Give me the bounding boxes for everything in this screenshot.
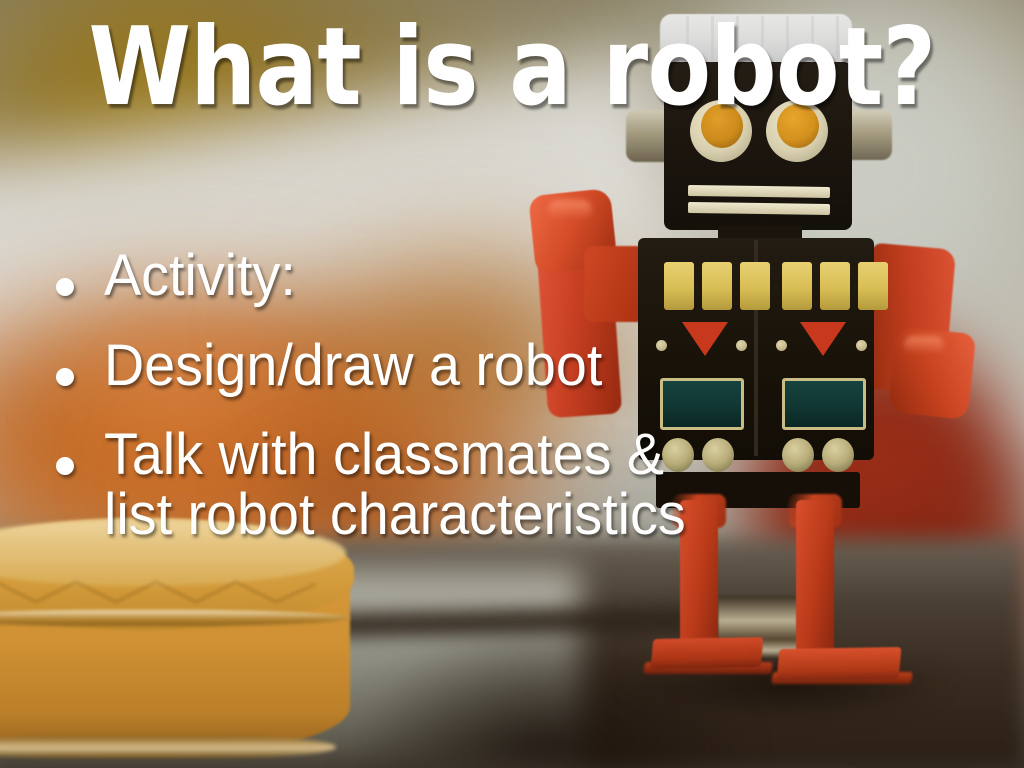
robot-left-hand-highlight bbox=[548, 200, 592, 220]
bullet-line: Talk with classmates & bbox=[104, 422, 664, 487]
bullet-dot-icon bbox=[56, 368, 74, 386]
bullet-item-text: Activity: bbox=[104, 246, 922, 306]
bullet-dot-icon bbox=[56, 278, 74, 296]
tin-bottom-edge bbox=[0, 736, 336, 758]
robot-mouth-bar-bottom bbox=[688, 202, 830, 215]
robot-mouth-bar-top bbox=[688, 185, 830, 198]
bullet-item-activity: Activity: bbox=[56, 246, 956, 306]
bullet-line: Activity: bbox=[104, 243, 296, 308]
bullet-item-text: Talk with classmates & list robot charac… bbox=[104, 425, 922, 544]
slide-title: What is a robot? bbox=[72, 14, 953, 122]
bullet-item-text: Design/draw a robot bbox=[104, 336, 922, 396]
slide-bullet-list: Activity: Design/draw a robot Talk with … bbox=[56, 246, 956, 545]
bullet-item-talk-list: Talk with classmates & list robot charac… bbox=[56, 425, 956, 544]
robot-right-foot bbox=[776, 647, 901, 681]
background-round-tin bbox=[0, 518, 360, 768]
bullet-line: list robot characteristics bbox=[104, 485, 922, 545]
robot-left-foot bbox=[651, 637, 764, 669]
presentation-slide: What is a robot? Activity: Design/draw a… bbox=[0, 0, 1024, 768]
bullet-item-design-draw: Design/draw a robot bbox=[56, 336, 956, 396]
tin-seam bbox=[0, 610, 350, 626]
bullet-line: Design/draw a robot bbox=[104, 333, 602, 398]
bullet-dot-icon bbox=[56, 457, 74, 475]
